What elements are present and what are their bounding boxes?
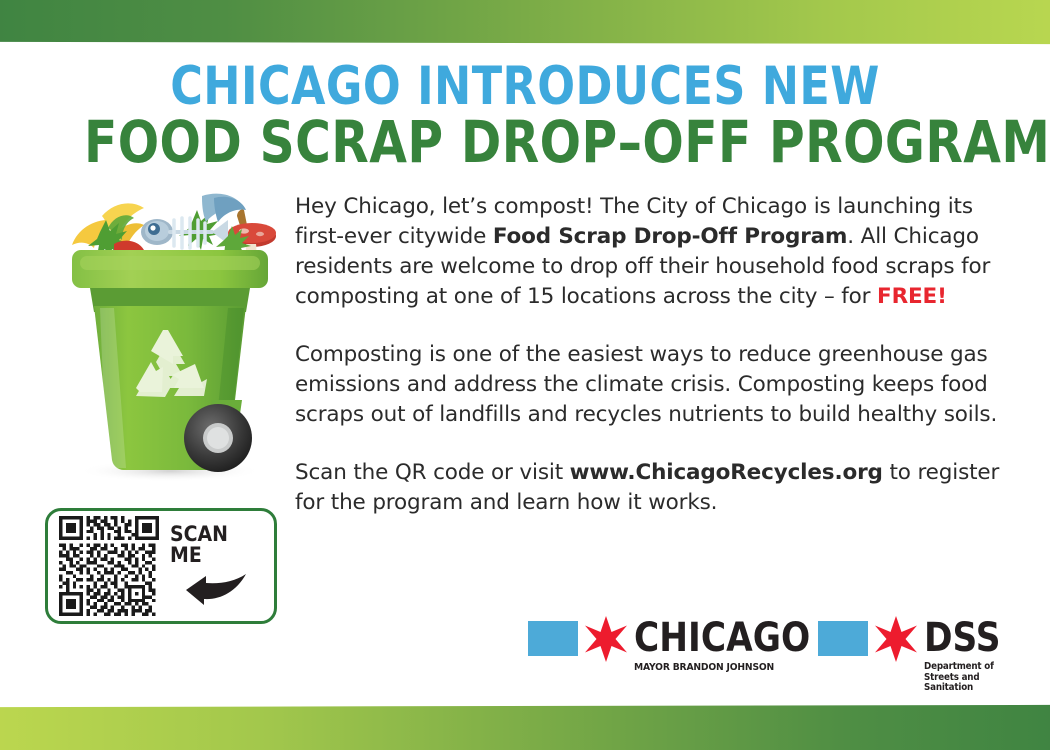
dss-flag-blue-bar <box>818 621 868 656</box>
p3-part1: Scan the QR code or visit <box>295 460 570 485</box>
logo-row: CHICAGO MAYOR BRANDON JOHNSON DSS Depart… <box>520 612 1020 682</box>
scan-me-label: SCAN ME <box>170 524 261 566</box>
free-emphasis: FREE! <box>877 284 947 309</box>
arrow-left-icon <box>184 570 248 606</box>
chicago-flag-blue-bar <box>528 621 578 656</box>
chicago-logo-text: CHICAGO MAYOR BRANDON JOHNSON <box>634 617 839 673</box>
qr-code-image[interactable] <box>59 516 159 616</box>
recycling-bin-illustration <box>52 188 284 488</box>
paragraph-1: Hey Chicago, let’s compost! The City of … <box>295 192 1005 312</box>
dss-logo: DSS Department of Streets and Sanitation <box>818 617 1024 694</box>
flyer-canvas: CHICAGO INTRODUCES NEW FOOD SCRAP DROP–O… <box>0 0 1050 750</box>
chicago-city-logo: CHICAGO MAYOR BRANDON JOHNSON <box>528 617 839 673</box>
dss-logo-text: DSS Department of Streets and Sanitation <box>924 617 1024 694</box>
qr-code-box[interactable]: SCAN ME <box>45 508 277 624</box>
scan-me-group: SCAN ME <box>159 524 266 606</box>
website-url[interactable]: www.ChicagoRecycles.org <box>570 460 883 485</box>
page-title: CHICAGO INTRODUCES NEW FOOD SCRAP DROP–O… <box>0 62 1050 169</box>
dss-wordmark: DSS <box>924 619 1010 657</box>
body-copy: Hey Chicago, let’s compost! The City of … <box>295 192 1005 518</box>
dss-department-subtitle: Department of Streets and Sanitation <box>924 662 1016 694</box>
chicago-mayor-subtitle: MAYOR BRANDON JOHNSON <box>634 662 822 673</box>
chicago-six-point-star-icon <box>582 615 630 663</box>
p1-bold-program: Food Scrap Drop-Off Program <box>493 224 847 249</box>
top-gradient-banner <box>0 0 1050 44</box>
chicago-wordmark: CHICAGO <box>634 619 810 657</box>
paragraph-3: Scan the QR code or visit www.ChicagoRec… <box>295 458 1005 518</box>
title-line-2: FOOD SCRAP DROP–OFF PROGRAM <box>84 115 966 170</box>
paragraph-2: Composting is one of the easiest ways to… <box>295 340 1005 430</box>
bottom-gradient-banner <box>0 705 1050 750</box>
dss-six-point-star-icon <box>872 615 920 663</box>
title-line-1: CHICAGO INTRODUCES NEW <box>84 62 966 112</box>
